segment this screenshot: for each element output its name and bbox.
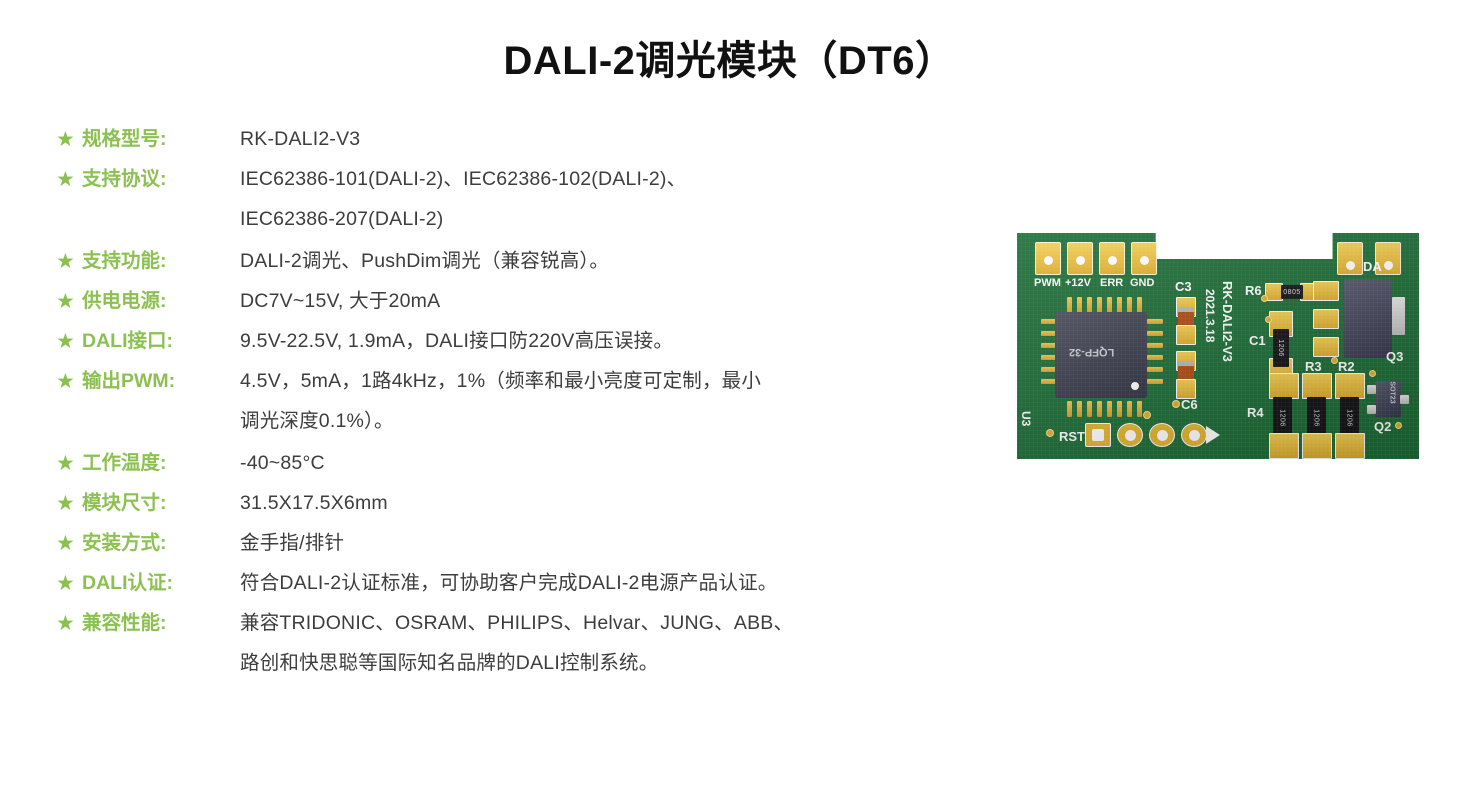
pad-err [1099,242,1125,275]
spec-value-operating-temperature: -40~85°C [240,448,986,478]
star-bullet-icon: ★ [56,609,82,639]
designator-c1: C1 [1249,333,1266,348]
pad-da-1 [1337,242,1363,275]
product-spec-page: DALI-2调光模块（DT6） ★ 规格型号: RK-DALI2-V3 ★ 支持… [0,0,1459,792]
spec-row-power-supply: ★ 供电电源: DC7V~15V, 大于20mA [56,286,986,317]
spec-label-power-supply: 供电电源: [82,286,240,316]
spec-value-dali-interface: 9.5V-22.5V, 1.9mA，DALI接口防220V高压误接。 [240,326,986,356]
designator-r4: R4 [1247,405,1264,420]
spec-label-dimensions: 模块尺寸: [82,488,240,518]
star-bullet-icon: ★ [56,489,82,519]
spec-row-compatibility: ★ 兼容性能: 兼容TRIDONIC、OSRAM、PHILIPS、Helvar、… [56,608,986,678]
designator-r2: R2 [1338,359,1355,374]
spec-label-compatibility: 兼容性能: [82,608,240,638]
designator-q3: Q3 [1386,349,1403,364]
through-hole-2 [1117,423,1143,447]
spec-row-operating-temperature: ★ 工作温度: -40~85°C [56,448,986,479]
spec-row-pwm-output: ★ 输出PWM: 4.5V，5mA，1路4kHz，1%（频率和最小亮度可定制，最… [56,366,986,436]
specification-list: ★ 规格型号: RK-DALI2-V3 ★ 支持协议: IEC62386-101… [56,124,986,690]
star-bullet-icon: ★ [56,247,82,277]
spec-value-pwm-output-line2: 调光深度0.1%）。 [240,406,986,436]
star-bullet-icon: ★ [56,287,82,317]
pad-label-err: ERR [1100,277,1123,289]
spec-value-protocol: IEC62386-101(DALI-2)、IEC62386-102(DALI-2… [240,164,986,234]
star-bullet-icon: ★ [56,569,82,599]
spec-label-functions: 支持功能: [82,246,240,276]
spec-label-dali-interface: DALI接口: [82,326,240,356]
spec-label-certification: DALI认证: [82,568,240,598]
star-bullet-icon: ★ [56,165,82,195]
designator-rst: RST [1059,429,1085,444]
spec-value-pwm-output-line1: 4.5V，5mA，1路4kHz，1%（频率和最小亮度可定制，最小 [240,370,761,392]
spec-label-operating-temperature: 工作温度: [82,448,240,478]
star-bullet-icon: ★ [56,125,82,155]
designator-r6: R6 [1245,283,1262,298]
spec-value-power-supply: DC7V~15V, 大于20mA [240,286,986,316]
star-bullet-icon: ★ [56,367,82,397]
spec-row-functions: ★ 支持功能: DALI-2调光、PushDim调光（兼容锐高）。 [56,246,986,277]
designator-u3: U3 [1019,411,1033,426]
pad-label-12v: +12V [1065,277,1091,289]
silkscreen-part-number: RK-DALI2-V3 [1220,281,1235,362]
pad-label-da: DA [1363,259,1382,274]
polarity-marker-icon [1206,426,1220,444]
spec-value-protocol-line1: IEC62386-101(DALI-2)、IEC62386-102(DALI-2… [240,168,686,190]
spec-value-compatibility: 兼容TRIDONIC、OSRAM、PHILIPS、Helvar、JUNG、ABB… [240,608,986,678]
star-bullet-icon: ★ [56,529,82,559]
designator-c6: C6 [1181,397,1198,412]
page-title: DALI-2调光模块（DT6） [0,28,1459,86]
pad-pwm [1035,242,1061,275]
spec-row-dali-interface: ★ DALI接口: 9.5V-22.5V, 1.9mA，DALI接口防220V高… [56,326,986,357]
pad-12v [1067,242,1093,275]
spec-value-compatibility-line2: 路创和快思聪等国际知名品牌的DALI控制系统。 [240,648,986,678]
capacitor-c1: 1206 [1273,329,1289,367]
r6-code: 0805 [1281,285,1303,299]
spec-row-dimensions: ★ 模块尺寸: 31.5X17.5X6mm [56,488,986,519]
pcb-product-image: PWM +12V ERR GND DA [1017,233,1419,459]
silkscreen-date-code: 2021.3.18 [1203,289,1217,342]
spec-label-model: 规格型号: [82,124,240,154]
mcu-marking: LQFP-32 [1069,346,1114,358]
through-hole-4 [1181,423,1207,447]
spec-value-protocol-line2: IEC62386-207(DALI-2) [240,204,986,234]
spec-value-functions: DALI-2调光、PushDim调光（兼容锐高）。 [240,246,986,276]
spec-row-model: ★ 规格型号: RK-DALI2-V3 [56,124,986,155]
transistor-q2: SOT23 [1375,381,1401,417]
lqfp32-mcu: LQFP-32 [1055,312,1147,398]
c1-code: 1206 [1262,340,1300,356]
designator-c3: C3 [1175,279,1192,294]
spec-row-mounting: ★ 安装方式: 金手指/排针 [56,528,986,559]
spec-value-model: RK-DALI2-V3 [240,124,986,154]
spec-row-certification: ★ DALI认证: 符合DALI-2认证标准，可协助客户完成DALI-2电源产品… [56,568,986,599]
spec-label-pwm-output: 输出PWM: [82,366,240,396]
spec-row-protocol: ★ 支持协议: IEC62386-101(DALI-2)、IEC62386-10… [56,164,986,234]
spec-label-mounting: 安装方式: [82,528,240,558]
through-hole-3 [1149,423,1175,447]
pad-label-gnd: GND [1130,277,1154,289]
spec-label-protocol: 支持协议: [82,164,240,194]
star-bullet-icon: ★ [56,327,82,357]
spec-value-compatibility-line1: 兼容TRIDONIC、OSRAM、PHILIPS、Helvar、JUNG、ABB… [240,612,793,634]
transistor-q3 [1344,279,1392,358]
resistor-r6: 0805 [1281,285,1303,299]
star-bullet-icon: ★ [56,449,82,479]
designator-r3: R3 [1305,359,1322,374]
spec-value-dimensions: 31.5X17.5X6mm [240,488,986,518]
pad-gnd [1131,242,1157,275]
q2-code: SOT23 [1389,381,1396,403]
spec-value-certification: 符合DALI-2认证标准，可协助客户完成DALI-2电源产品认证。 [240,568,986,598]
spec-value-mounting: 金手指/排针 [240,528,986,558]
through-hole-rst [1085,423,1111,447]
r2-code: 1206 [1329,409,1371,428]
pad-label-pwm: PWM [1034,277,1061,289]
designator-q2: Q2 [1374,419,1391,434]
spec-value-pwm-output: 4.5V，5mA，1路4kHz，1%（频率和最小亮度可定制，最小 调光深度0.1… [240,366,986,436]
